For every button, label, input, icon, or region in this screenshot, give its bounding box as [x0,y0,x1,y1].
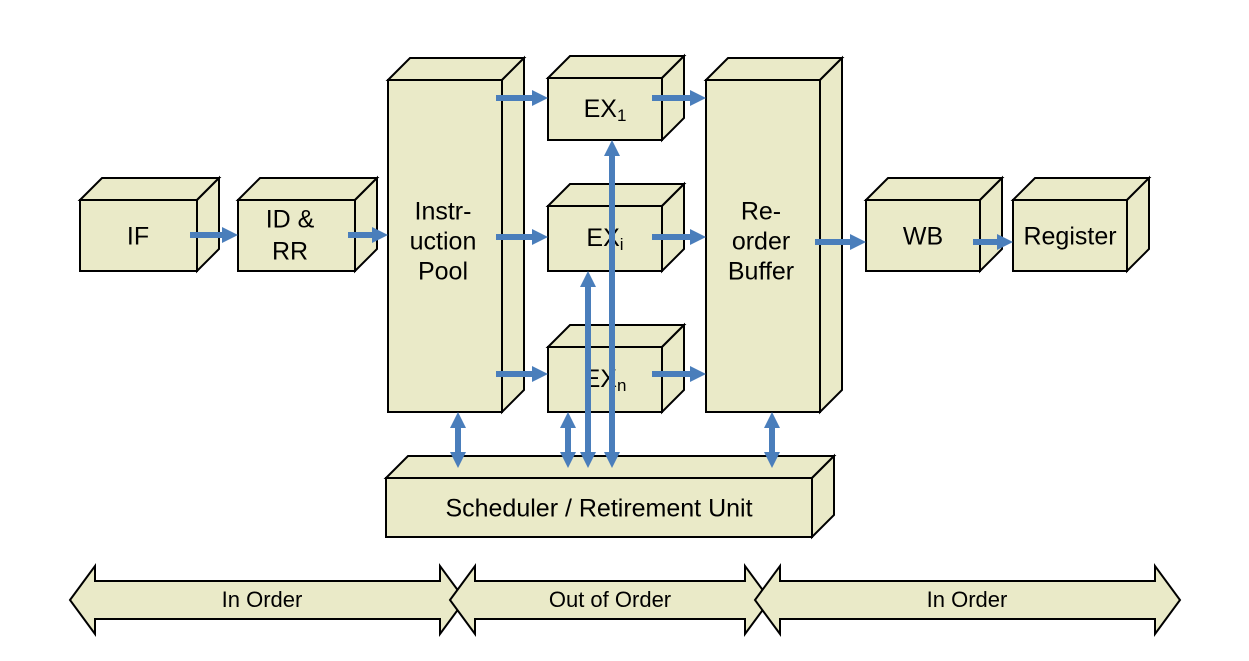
ex-n-label-subscript: n [617,376,626,395]
diagram-canvas: IF ID & RR Instr- uction Pool EX1 EXi [0,0,1249,661]
block-reorder-buffer: Re- order Buffer [706,58,842,412]
reorder-buffer-side-face [820,58,842,412]
if-label: IF [127,223,149,251]
reorder-buffer-top-face [706,58,842,80]
ex-1-top-face [548,56,684,78]
if-top-face [80,178,219,200]
ex-1-label-subscript: 1 [617,106,626,125]
band-out-of-order-label: Out of Order [549,587,671,612]
instruction-pool-label-line1: Instr- [415,198,472,226]
band-in-order-front: In Order [70,566,465,634]
reorder-buffer-label-line2: order [732,228,790,256]
block-ex-n: EXn [548,325,684,412]
band-in-order-back-label: In Order [927,587,1008,612]
ex-i-label-subscript: i [620,235,624,254]
pipeline-diagram-svg: IF ID & RR Instr- uction Pool EX1 EXi [0,0,1249,661]
ex-i-label: EXi [586,224,623,255]
band-out-of-order: Out of Order [450,566,770,634]
band-in-order-back: In Order [755,566,1180,634]
block-id-rr: ID & RR [238,178,377,271]
register-label: Register [1023,223,1116,251]
id-rr-label-line1: ID & [266,206,315,234]
instruction-pool-label-line2: uction [410,228,477,256]
instruction-pool-top-face [388,58,524,80]
wb-top-face [866,178,1002,200]
ex-i-label-base: EX [586,224,620,252]
block-wb: WB [866,178,1002,271]
id-rr-top-face [238,178,377,200]
id-rr-label-line2: RR [272,238,308,266]
block-scheduler: Scheduler / Retirement Unit [386,456,834,537]
block-register: Register [1013,178,1149,271]
ex-i-top-face [548,184,684,206]
block-ex-i: EXi [548,184,684,271]
reorder-buffer-label-line1: Re- [741,198,781,226]
scheduler-label: Scheduler / Retirement Unit [445,495,752,523]
band-in-order-front-label: In Order [222,587,303,612]
ex-n-top-face [548,325,684,347]
instruction-pool-label-line3: Pool [418,258,468,286]
ex-1-label-base: EX [584,95,618,123]
wb-label: WB [903,223,943,251]
register-top-face [1013,178,1149,200]
reorder-buffer-label-line3: Buffer [728,258,794,286]
block-if: IF [80,178,219,271]
